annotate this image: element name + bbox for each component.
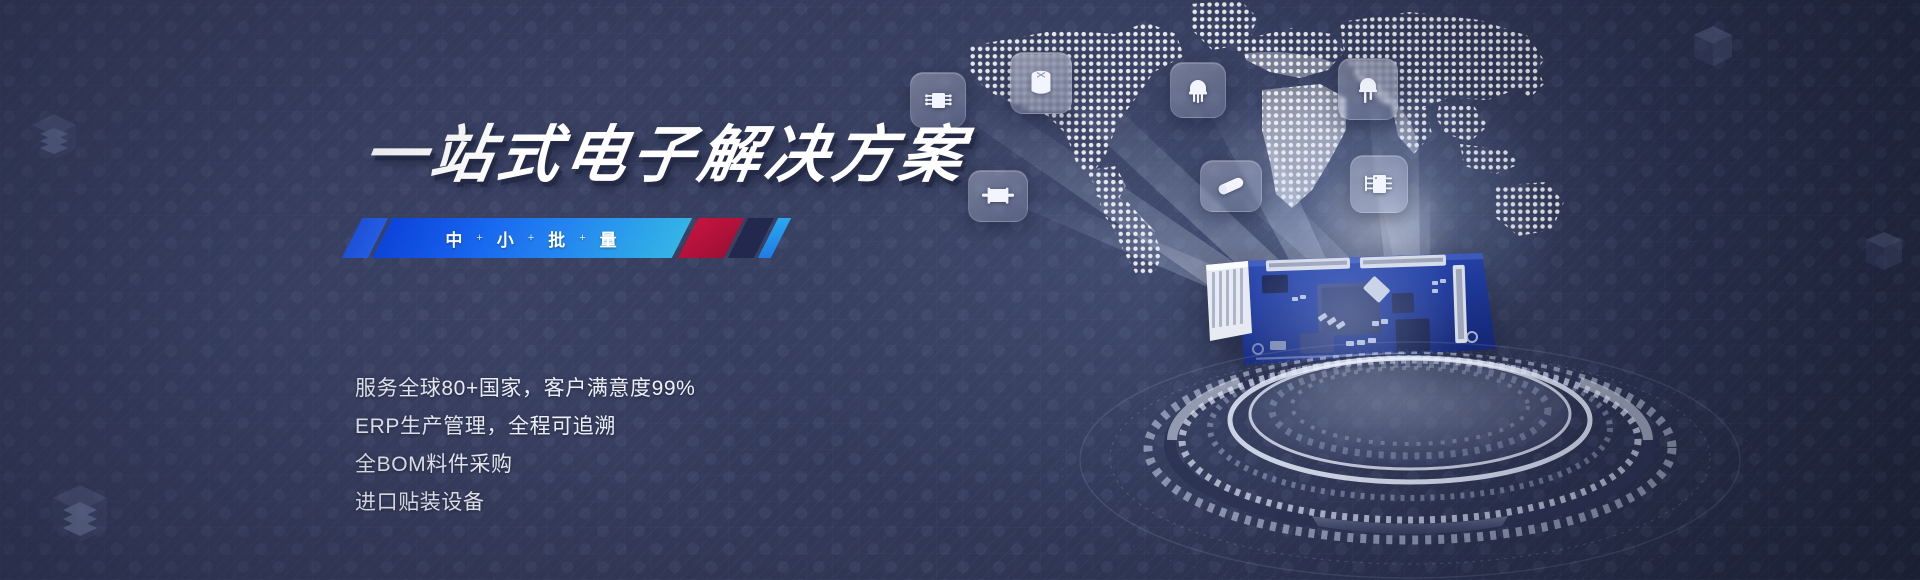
ribbon-separator-1: + [528,232,536,244]
badge-soic-chip[interactable] [1350,155,1408,213]
ribbon-item-1: 小 [497,226,516,251]
ribbon-item-0: 中 [445,226,464,251]
feature-item-0: 服务全球80+国家，客户满意度99% [355,370,695,408]
feature-item-2: 全BOM料件采购 [355,446,695,484]
transistor-icon [1184,75,1212,105]
tech-scene [900,0,1920,580]
hero-banner: 一站式电子解决方案 中 + 小 + 批 + 量 服务全球80+国家，客户满意度9… [0,0,1920,580]
feature-list: 服务全球80+国家，客户满意度99% ERP生产管理，全程可追溯 全BOM料件采… [355,370,695,522]
badge-crystal[interactable] [1200,160,1262,212]
capacitor-icon [1025,66,1057,100]
ribbon-label: 中 + 小 + 批 + 量 [382,218,682,258]
hud-tech-platform [1060,320,1760,580]
ribbon-item-3: 量 [600,226,619,251]
page-title: 一站式电子解决方案 [358,104,975,194]
badge-capacitor[interactable] [1010,52,1072,114]
ribbon-item-2: 批 [548,226,567,251]
badge-resistor[interactable] [968,170,1028,222]
ribbon-separator-2: + [579,232,587,244]
world-dot-map [940,0,1580,274]
ribbon-separator-0: + [476,232,484,244]
copy-block: 一站式电子解决方案 中 + 小 + 批 + 量 服务全球80+国家，客户满意度9… [0,0,900,580]
badge-led[interactable] [1338,58,1398,120]
led-icon [1353,72,1383,106]
soic-chip-icon [1363,169,1395,199]
feature-item-1: ERP生产管理，全程可追溯 [355,408,695,446]
ribbon-badge: 中 + 小 + 批 + 量 [352,218,782,258]
badge-transistor[interactable] [1170,62,1226,118]
feature-item-3: 进口贴装设备 [355,484,695,522]
crystal-icon [1213,174,1249,198]
resistor-icon [981,185,1015,207]
